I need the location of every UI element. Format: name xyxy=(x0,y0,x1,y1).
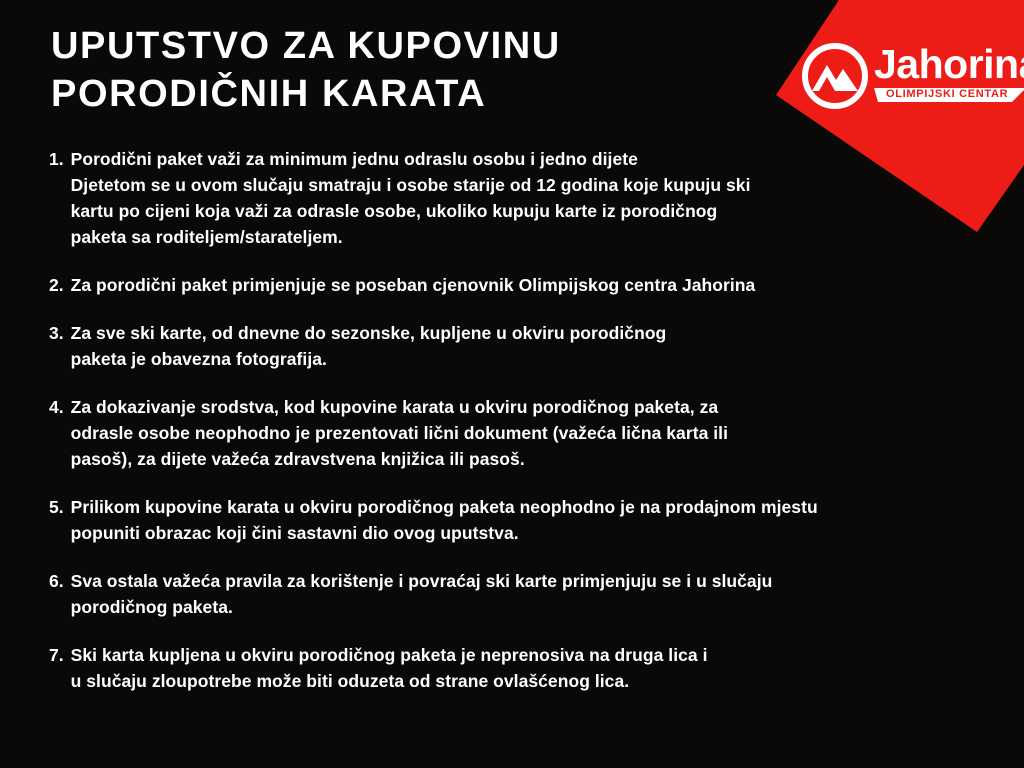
list-item-line: porodičnog paketa. xyxy=(71,594,989,620)
list-item: 1. Porodični paket važi za minimum jednu… xyxy=(49,146,989,250)
list-item-text: Prilikom kupovine karata u okviru porodi… xyxy=(71,494,989,546)
list-item-line: pasoš), za dijete važeća zdravstvena knj… xyxy=(71,446,989,472)
list-item: 3. Za sve ski karte, od dnevne do sezons… xyxy=(49,320,989,372)
page-title: UPUTSTVO ZA KUPOVINU PORODIČNIH KARATA xyxy=(51,22,751,118)
ribbon-shape xyxy=(874,86,1024,103)
list-item: 2. Za porodični paket primjenjuje se pos… xyxy=(49,272,989,298)
list-item-text: Za sve ski karte, od dnevne do sezonske,… xyxy=(71,320,989,372)
list-item-line: Za porodični paket primjenjuje se poseba… xyxy=(71,272,989,298)
list-item-line: Za dokazivanje srodstva, kod kupovine ka… xyxy=(71,394,989,420)
page-title-line-1: UPUTSTVO ZA KUPOVINU xyxy=(51,22,751,70)
list-item-line: u slučaju zloupotrebe može biti oduzeta … xyxy=(71,668,989,694)
list-item-line: Djetetom se u ovom slučaju smatraju i os… xyxy=(71,172,989,198)
list-item-number: 1. xyxy=(49,146,71,172)
brand-subtitle-ribbon: OLIMPIJSKI CENTAR xyxy=(874,86,1024,103)
list-item-text: Za porodični paket primjenjuje se poseba… xyxy=(71,272,989,298)
list-item-text: Porodični paket važi za minimum jednu od… xyxy=(71,146,989,250)
list-item-line: Ski karta kupljena u okviru porodičnog p… xyxy=(71,642,989,668)
list-item-number: 2. xyxy=(49,272,71,298)
list-item-number: 7. xyxy=(49,642,71,668)
list-item-line: kartu po cijeni koja važi za odrasle oso… xyxy=(71,198,989,224)
list-item-line: Prilikom kupovine karata u okviru porodi… xyxy=(71,494,989,520)
list-item-line: popuniti obrazac koji čini sastavni dio … xyxy=(71,520,989,546)
list-item-line: Za sve ski karte, od dnevne do sezonske,… xyxy=(71,320,989,346)
list-item: 4. Za dokazivanje srodstva, kod kupovine… xyxy=(49,394,989,472)
list-item: 7. Ski karta kupljena u okviru porodično… xyxy=(49,642,989,694)
logo-wordmark: Jahorina OLIMPIJSKI CENTAR xyxy=(874,43,1024,103)
list-item-line: Sva ostala važeća pravila za korištenje … xyxy=(71,568,989,594)
list-item: 6. Sva ostala važeća pravila za korišten… xyxy=(49,568,989,620)
list-item-number: 5. xyxy=(49,494,71,520)
page-title-line-2: PORODIČNIH KARATA xyxy=(51,70,751,118)
list-item-text: Za dokazivanje srodstva, kod kupovine ka… xyxy=(71,394,989,472)
list-item-line: paketa je obavezna fotografija. xyxy=(71,346,989,372)
list-item-number: 6. xyxy=(49,568,71,594)
brand-name: Jahorina xyxy=(874,44,1024,84)
rules-list: 1. Porodični paket važi za minimum jednu… xyxy=(49,146,989,716)
list-item-line: paketa sa roditeljem/starateljem. xyxy=(71,224,989,250)
list-item-text: Ski karta kupljena u okviru porodičnog p… xyxy=(71,642,989,694)
jahorina-logo: Jahorina OLIMPIJSKI CENTAR xyxy=(802,43,1024,121)
list-item-line: odrasle osobe neophodno je prezentovati … xyxy=(71,420,989,446)
list-item-number: 3. xyxy=(49,320,71,346)
list-item-number: 4. xyxy=(49,394,71,420)
list-item-text: Sva ostala važeća pravila za korištenje … xyxy=(71,568,989,620)
list-item-line: Porodični paket važi za minimum jednu od… xyxy=(71,146,989,172)
mountain-in-circle-icon xyxy=(802,43,868,109)
brand-subtitle: OLIMPIJSKI CENTAR xyxy=(886,88,1008,101)
slide-root: Jahorina OLIMPIJSKI CENTAR UPUTSTVO ZA K… xyxy=(0,0,1024,768)
list-item: 5. Prilikom kupovine karata u okviru por… xyxy=(49,494,989,546)
